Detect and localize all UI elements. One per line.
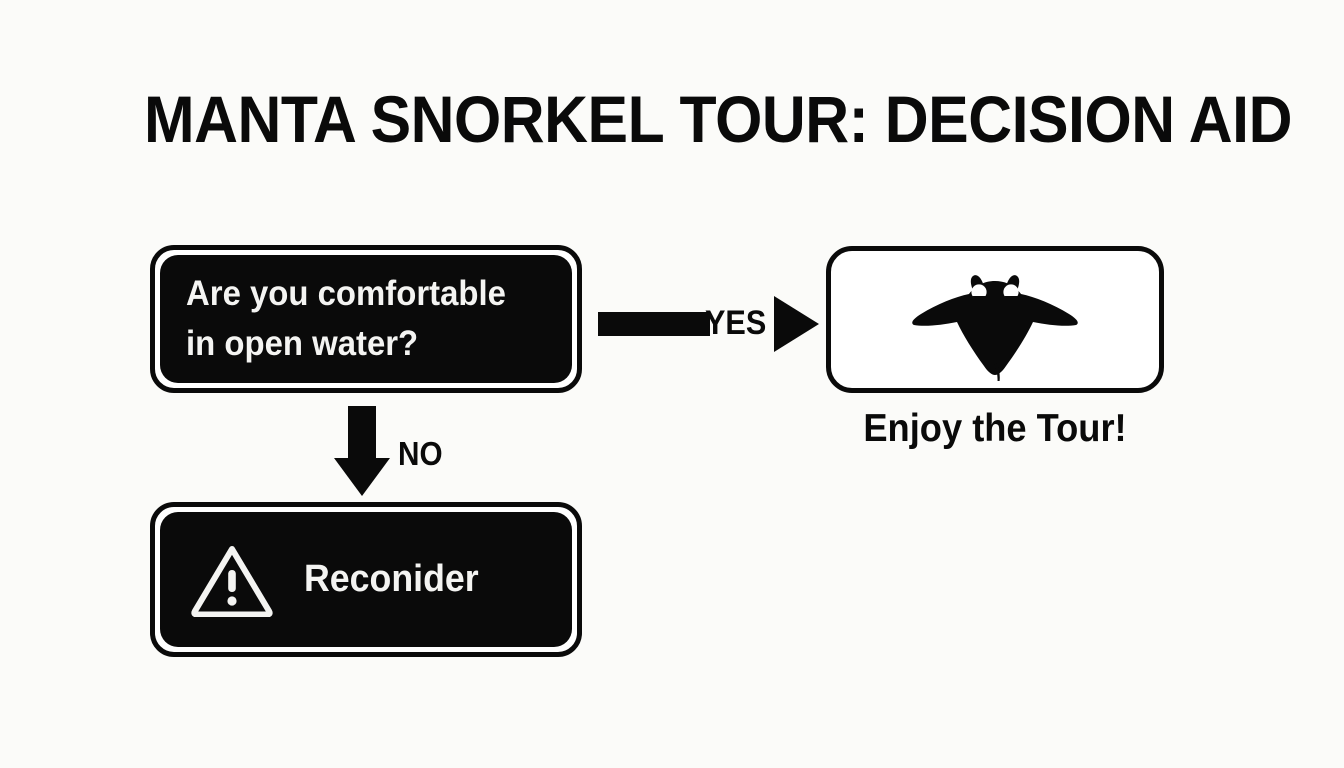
decision-node-body: Are you comfortable in open water? <box>160 255 572 383</box>
branch-no-label: NO <box>398 434 443 474</box>
reconsider-node[interactable]: Reconider <box>150 502 582 657</box>
diagram-canvas: MANTA SNORKEL TOUR: DECISION AID Are you… <box>0 0 1344 768</box>
arrow-right-icon <box>774 296 819 352</box>
branch-yes[interactable]: YES <box>598 300 822 360</box>
branch-no[interactable]: NO <box>336 406 476 498</box>
outcome-node[interactable] <box>826 246 1164 393</box>
arrow-down-shaft <box>348 406 376 462</box>
arrow-down-icon <box>334 458 390 496</box>
page-title: MANTA SNORKEL TOUR: DECISION AID <box>144 82 1292 156</box>
reconsider-node-body: Reconider <box>160 512 572 647</box>
reconsider-node-label: Reconider <box>304 558 479 601</box>
branch-yes-label: YES <box>705 300 766 347</box>
warning-triangle-icon <box>190 543 274 617</box>
arrow-right-shaft <box>598 312 710 336</box>
decision-node-label: Are you comfortable in open water? <box>186 269 506 369</box>
outcome-node-caption: Enjoy the Tour! <box>838 406 1152 452</box>
manta-ray-icon <box>905 265 1085 381</box>
decision-node[interactable]: Are you comfortable in open water? <box>150 245 582 393</box>
